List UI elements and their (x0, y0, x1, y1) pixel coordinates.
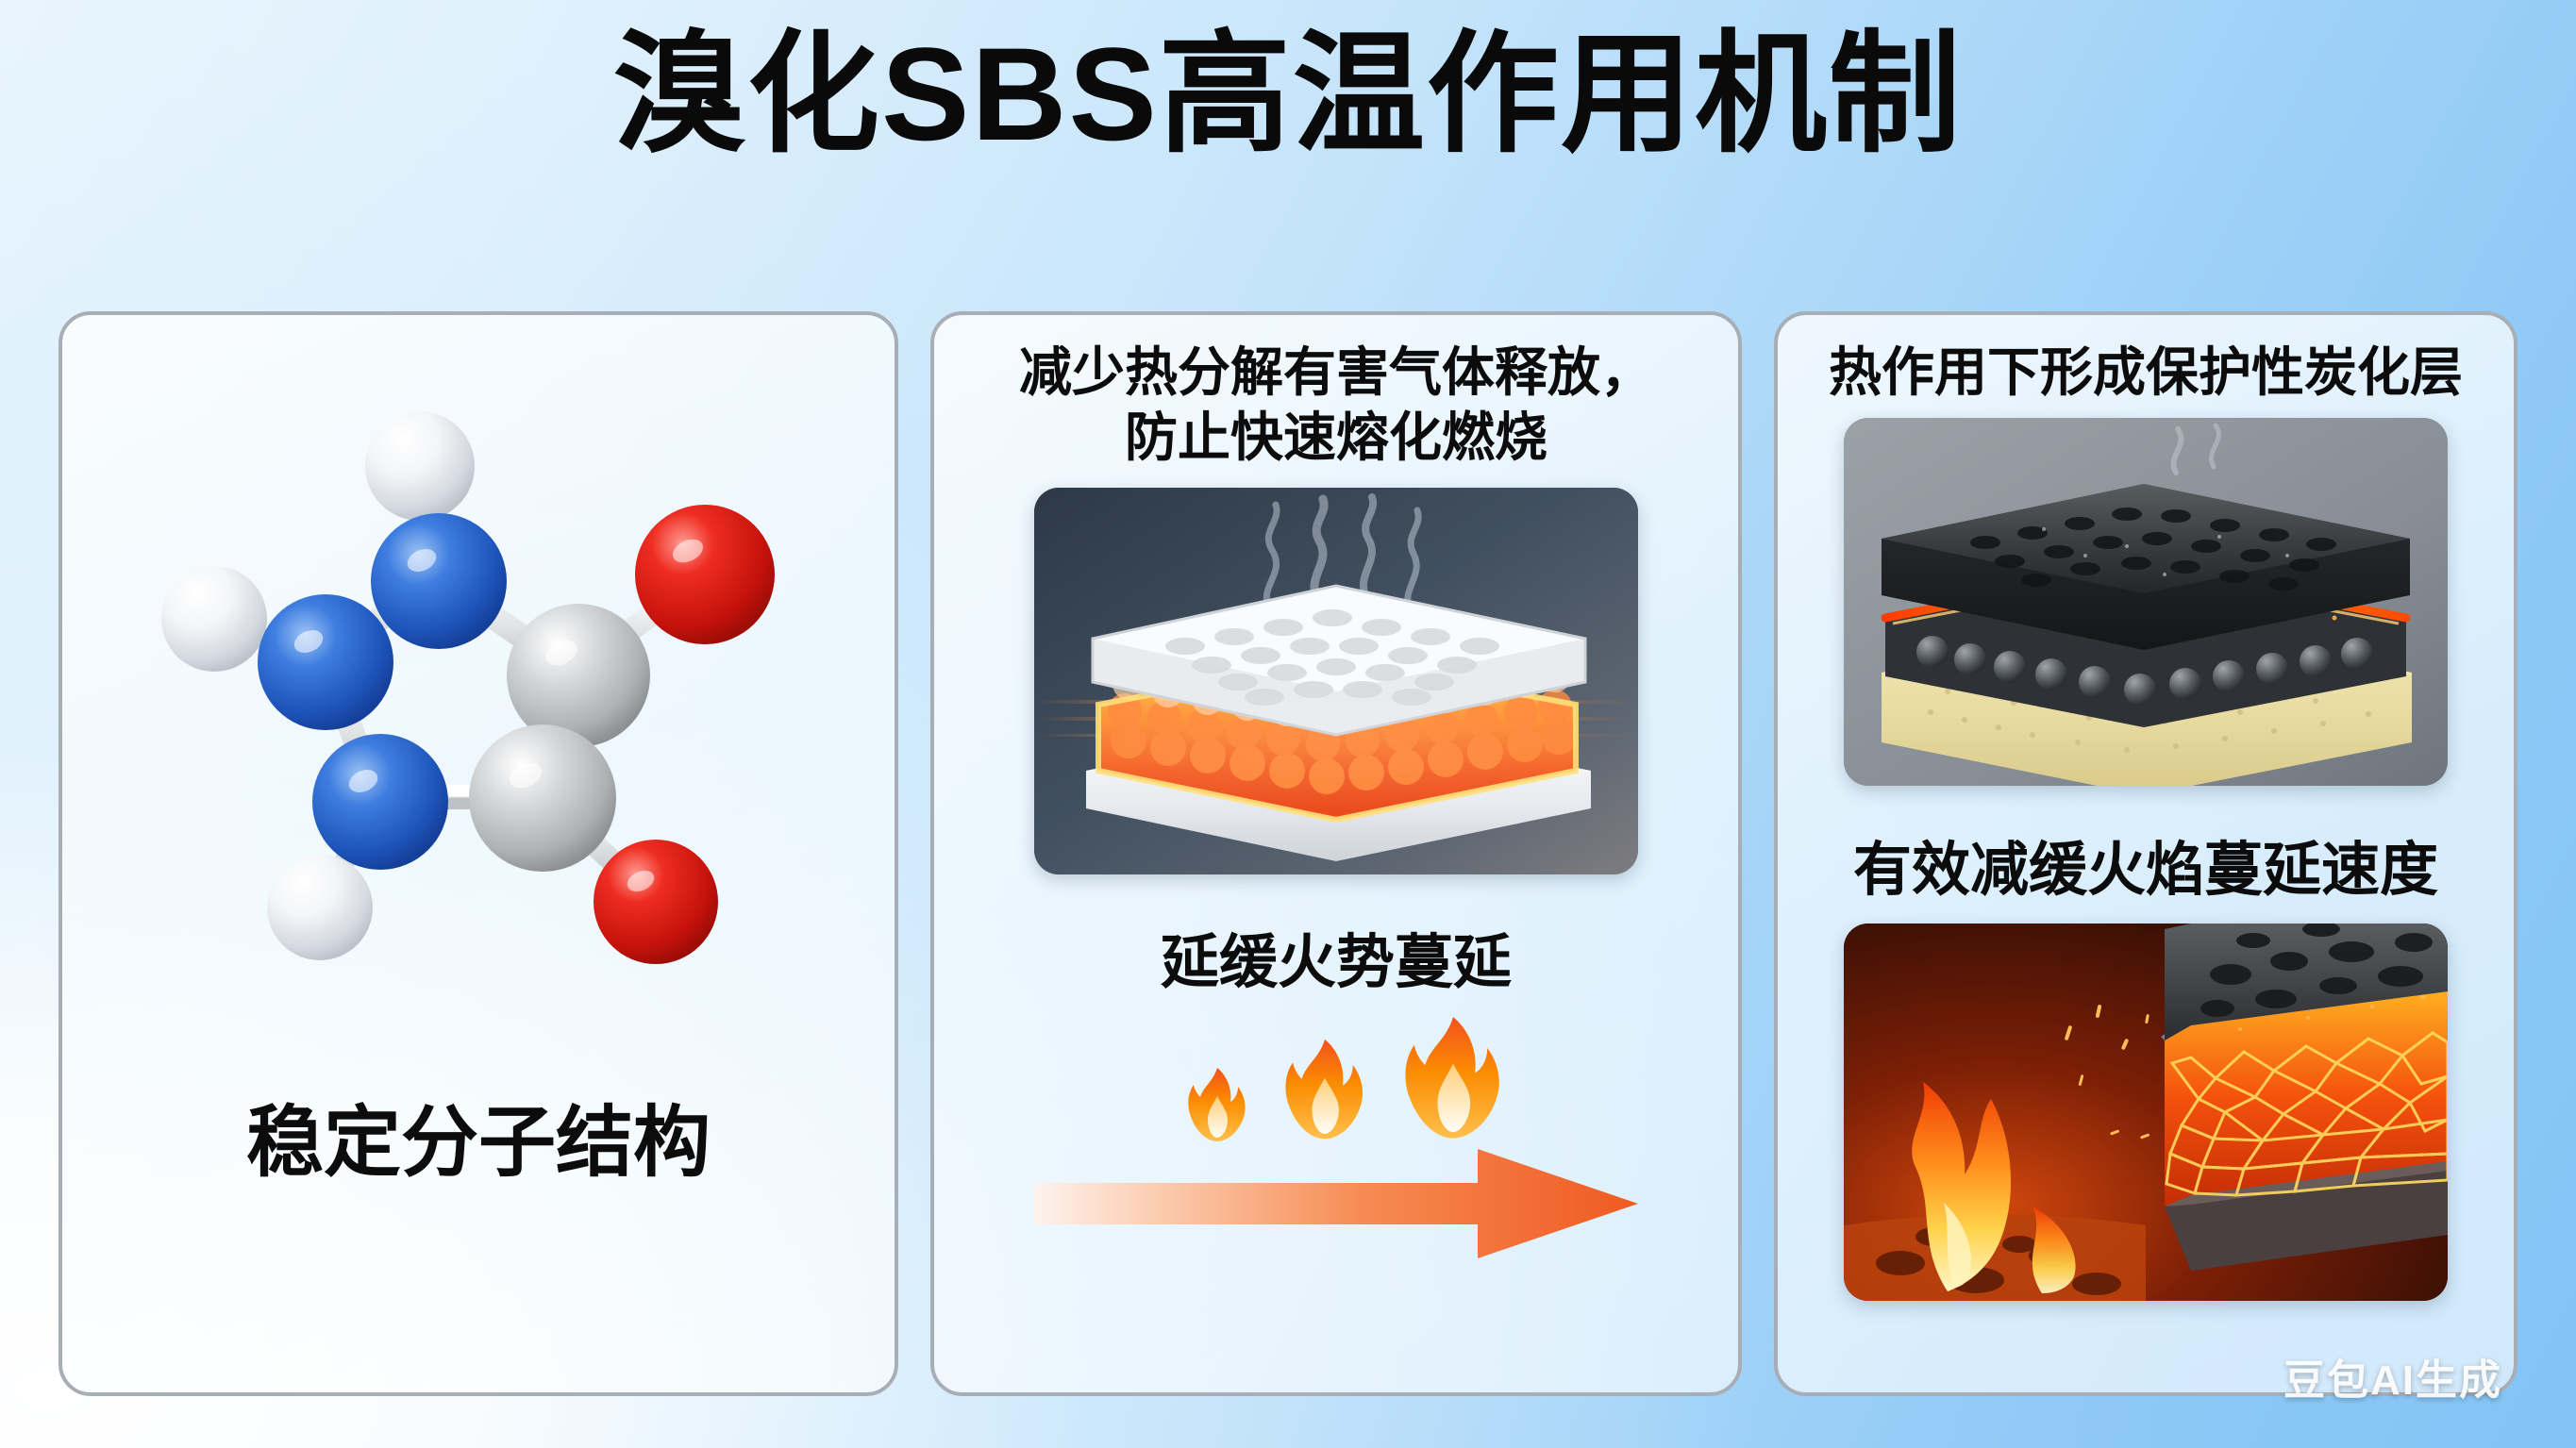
atom-hydrogen (267, 855, 373, 960)
card-caption-molecule: 稳定分子结构 (246, 1079, 711, 1191)
flame-medium-icon (1281, 1036, 1368, 1145)
thermal-barrier-photo (1034, 488, 1638, 874)
flame-foam-photo (1844, 924, 2448, 1301)
flame-icon-row (1034, 1027, 1638, 1145)
char-layer-photo (1844, 418, 2448, 786)
atom-nitrogen (312, 734, 448, 870)
card-molecule: 稳定分子结构 (59, 311, 898, 1396)
card-row: 稳定分子结构 减少热分解有害气体释放， 防止快速熔化燃烧 (59, 311, 2517, 1396)
page-title: 溴化SBS高温作用机制 (0, 25, 2576, 163)
atom-oxygen (635, 505, 775, 644)
card-caption-thermal: 延缓火势蔓延 (1161, 914, 1512, 999)
flame-large-icon (1400, 1013, 1506, 1145)
card-char-layer: 热作用下形成保护性炭化层 (1774, 311, 2517, 1396)
card-caption-char: 有效减缓火焰蔓延速度 (1853, 822, 2438, 907)
molecule-diagram (110, 372, 846, 994)
spread-arrow-icon (1034, 1147, 1638, 1260)
card-header-thermal: 减少热分解有害气体释放， 防止快速熔化燃烧 (1010, 315, 1663, 471)
infographic-page: 溴化SBS高温作用机制 (0, 0, 2576, 1448)
atom-carbon (469, 724, 616, 872)
atom-nitrogen (258, 594, 393, 730)
atom-hydrogen (161, 566, 267, 672)
card-header-char: 热作用下形成保护性炭化层 (1819, 315, 2472, 405)
atom-hydrogen (365, 411, 475, 521)
atom-oxygen (594, 840, 718, 964)
atom-carbon (507, 604, 650, 747)
atom-nitrogen (371, 513, 507, 649)
flame-small-icon (1185, 1066, 1249, 1145)
card-thermal-barrier: 减少热分解有害气体释放， 防止快速熔化燃烧 (930, 311, 1742, 1396)
